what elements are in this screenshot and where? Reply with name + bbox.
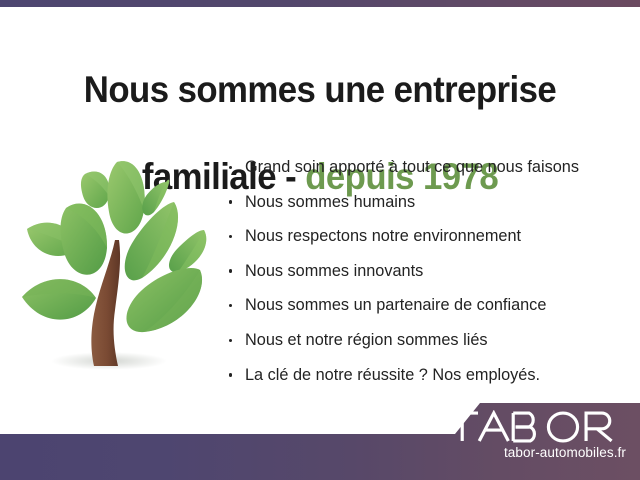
list-item-label: Nous et notre région sommes liés xyxy=(245,331,488,349)
list-item-label: La clé de notre réussite ? Nos employés. xyxy=(245,366,540,384)
bullet-icon xyxy=(229,373,232,376)
bullet-icon xyxy=(229,235,232,238)
bullet-icon xyxy=(229,200,232,203)
list-item: Nous sommes un partenaire de confiance xyxy=(228,288,628,323)
list-item: La clé de notre réussite ? Nos employés. xyxy=(228,358,628,393)
tree-illustration xyxy=(14,152,219,387)
list-item-label: Nous respectons notre environnement xyxy=(245,227,521,245)
top-accent-bar xyxy=(0,0,640,7)
list-item: Grand soin apporté à tout ce que nous fa… xyxy=(228,150,628,185)
bullet-icon xyxy=(229,166,232,169)
bullet-icon xyxy=(229,304,232,307)
headline-line-1: Nous sommes une entreprise xyxy=(19,68,621,112)
bullet-icon xyxy=(229,269,232,272)
list-item-label: Nous sommes humains xyxy=(245,193,415,211)
list-item-label: Grand soin apporté à tout ce que nous fa… xyxy=(245,158,579,176)
benefits-list: Grand soin apporté à tout ce que nous fa… xyxy=(228,150,628,392)
slide-canvas: Nous sommes une entreprise familiale - d… xyxy=(0,0,640,480)
brand-footer-bar xyxy=(0,402,640,480)
list-item: Nous respectons notre environnement xyxy=(228,219,628,254)
bullet-icon xyxy=(229,339,232,342)
list-item: Nous et notre région sommes liés xyxy=(228,323,628,358)
list-item-label: Nous sommes un partenaire de confiance xyxy=(245,296,546,314)
list-item: Nous sommes humains xyxy=(228,185,628,220)
list-item: Nous sommes innovants xyxy=(228,254,628,289)
list-item-label: Nous sommes innovants xyxy=(245,262,423,280)
